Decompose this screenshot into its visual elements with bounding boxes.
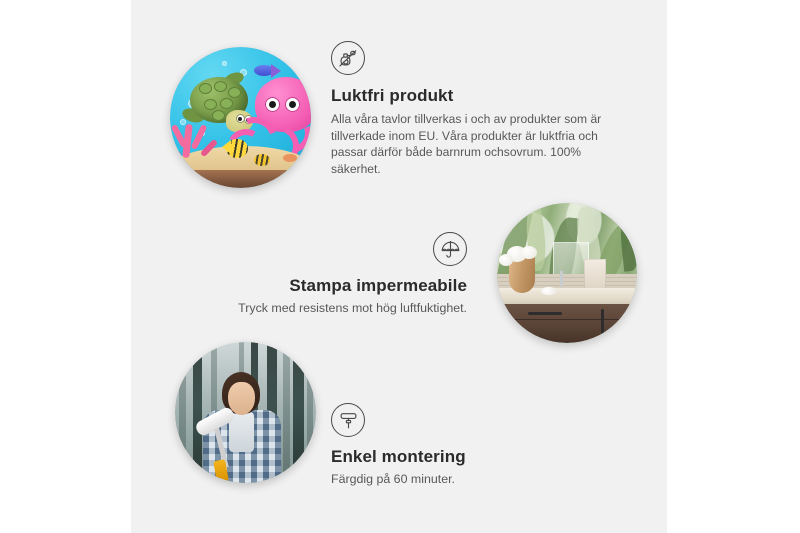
product-image-woman-roller[interactable] [175,342,316,483]
content-panel: Luktfri produkt Alla våra tavlor tillver… [131,0,667,533]
feature-block-easy-install: Enkel montering Färgdig på 60 minuter. [331,403,561,488]
paint-roller-icon [331,403,365,437]
promo-infographic-page: Luktfri produkt Alla våra tavlor tillver… [0,0,800,533]
feature-body: Alla våra tavlor tillverkas i och av pro… [331,111,627,177]
feature-title: Enkel montering [331,446,561,467]
feature-title: Stampa impermeabile [205,275,467,296]
feature-title: Luktfri produkt [331,85,627,106]
no-smell-perfume-bottle-icon [331,41,365,75]
feature-body: Färgdig på 60 minuter. [331,471,561,488]
feature-block-odourless: Luktfri produkt Alla våra tavlor tillver… [331,41,627,178]
product-image-underwater[interactable] [170,47,311,188]
product-image-bathroom[interactable] [497,203,637,343]
feature-body: Tryck med resistens mot hög luftfuktighe… [205,300,467,317]
umbrella-icon [433,232,467,266]
feature-block-waterproof: Stampa impermeabile Tryck med resistens … [205,232,467,317]
